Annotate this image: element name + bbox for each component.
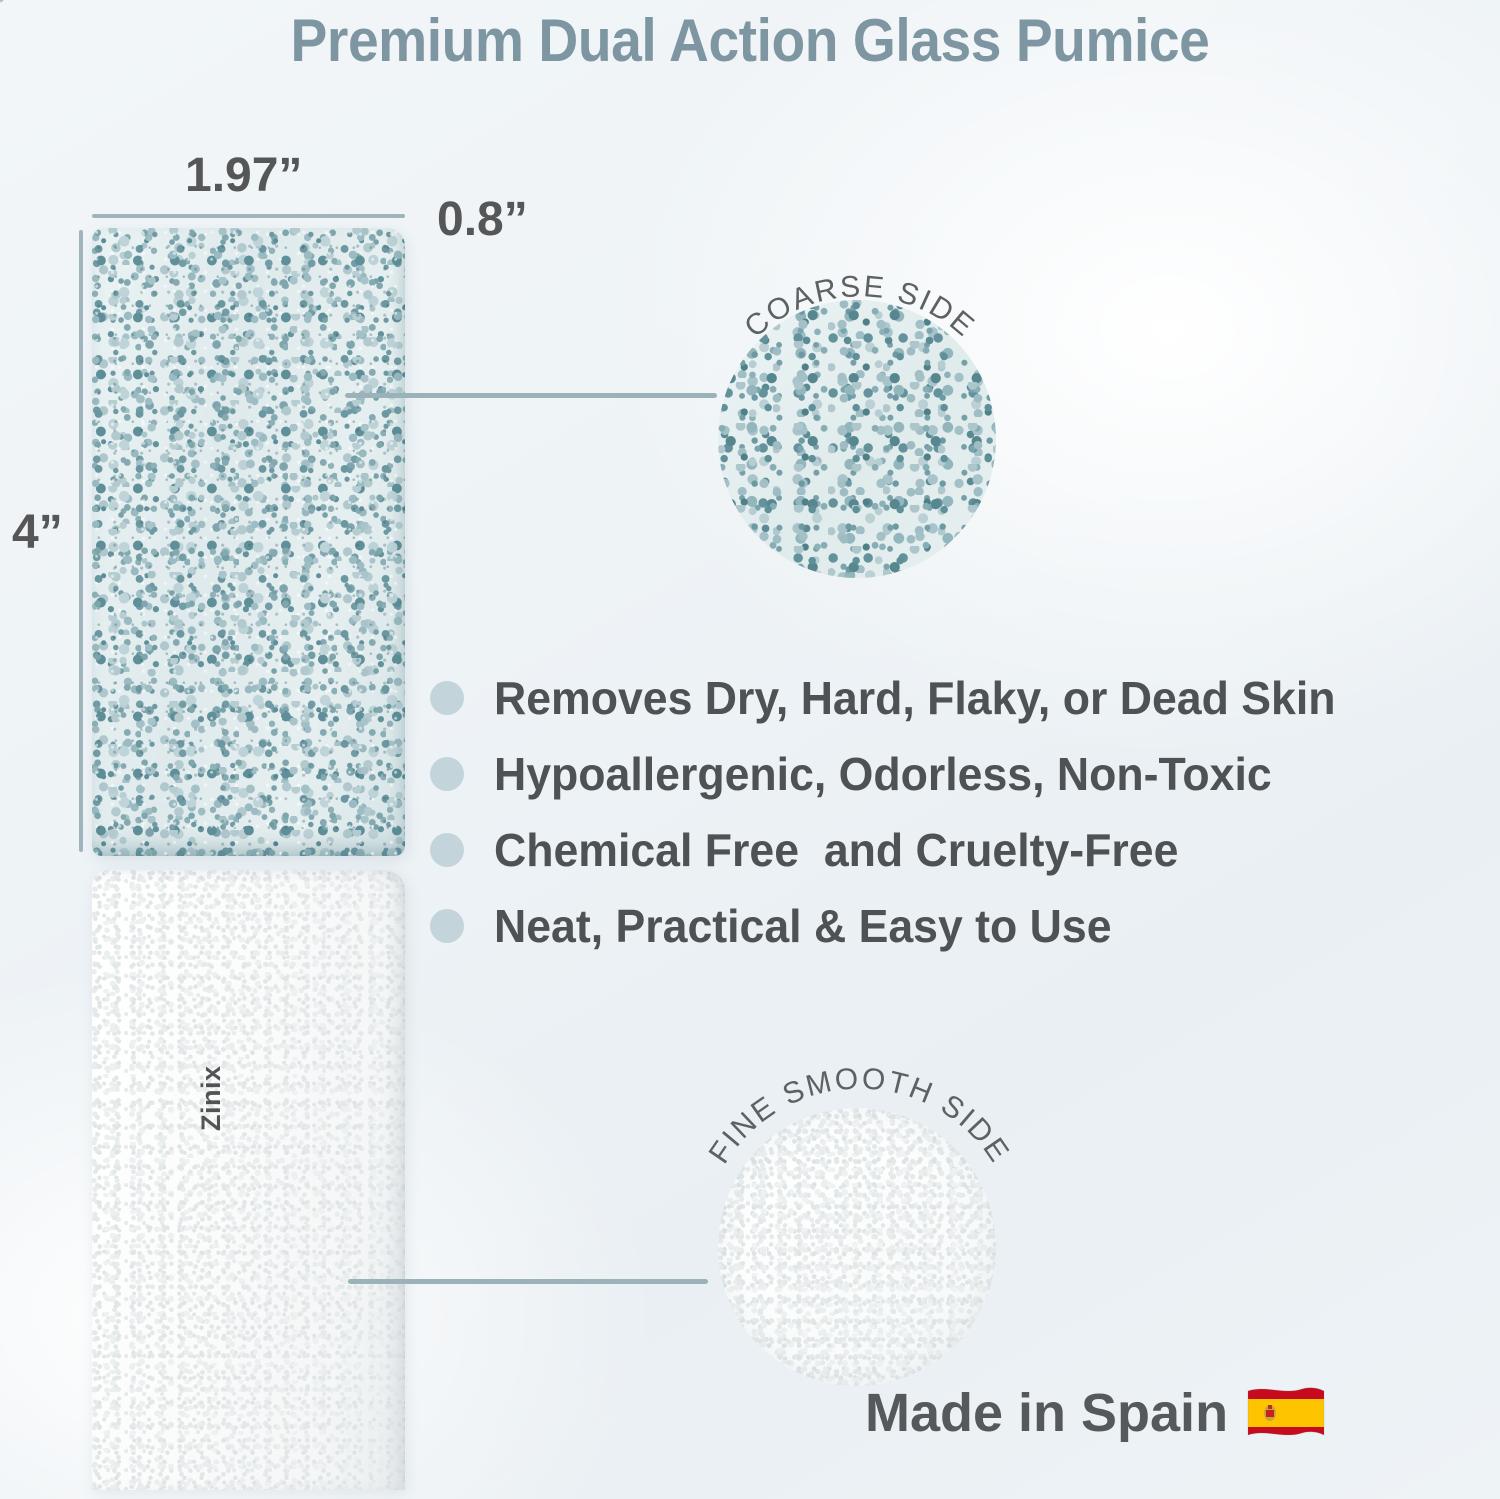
made-in-spain-label: Made in Spain (865, 1382, 1228, 1444)
feature-text: Removes Dry, Hard, Flaky, or Dead Skin (494, 671, 1335, 725)
product-infographic: Premium Dual Action Glass Pumice Zinix 1… (0, 0, 1500, 1499)
bullet-dot-icon (430, 909, 464, 943)
coarse-side-text: COARSE SIDE (738, 270, 981, 344)
svg-text:COARSE SIDE: COARSE SIDE (738, 270, 981, 344)
svg-text:FINE SMOOTH SIDE: FINE SMOOTH SIDE (703, 1062, 1017, 1169)
depth-dimension-label: 0.8” (437, 192, 528, 247)
width-dimension-label: 1.97” (185, 148, 302, 203)
spain-flag-icon (1244, 1383, 1328, 1443)
width-dimension-line (92, 214, 405, 218)
origin-badge: Made in Spain (865, 1382, 1328, 1444)
list-item: Chemical Free and Cruelty-Free (430, 812, 1370, 888)
depth-dimension-tick (0, 0, 32, 3)
feature-text: Neat, Practical & Easy to Use (494, 899, 1112, 953)
bullet-dot-icon (430, 833, 464, 867)
feature-text: Hypoallergenic, Odorless, Non-Toxic (494, 747, 1272, 801)
list-item: Removes Dry, Hard, Flaky, or Dead Skin (430, 660, 1370, 736)
brand-mark: Zinix (196, 1065, 227, 1131)
fine-leader-line (348, 1279, 708, 1284)
fine-smooth-side-arc-label: FINE SMOOTH SIDE (692, 1036, 1027, 1231)
feature-text: Chemical Free and Cruelty-Free (494, 823, 1178, 877)
height-dimension-line (79, 230, 83, 852)
bullet-dot-icon (430, 681, 464, 715)
list-item: Neat, Practical & Easy to Use (430, 888, 1370, 964)
bullet-dot-icon (430, 757, 464, 791)
feature-list: Removes Dry, Hard, Flaky, or Dead Skin H… (430, 660, 1370, 964)
fine-smooth-side-text: FINE SMOOTH SIDE (703, 1062, 1017, 1169)
coarse-leader-line (345, 393, 717, 398)
page-title: Premium Dual Action Glass Pumice (60, 6, 1440, 75)
coarse-pumice-block (92, 228, 405, 856)
fine-pumice-block (92, 870, 405, 1490)
height-dimension-label: 4” (12, 505, 63, 560)
list-item: Hypoallergenic, Odorless, Non-Toxic (430, 736, 1370, 812)
coarse-side-arc-label: COARSE SIDE (700, 232, 1020, 422)
